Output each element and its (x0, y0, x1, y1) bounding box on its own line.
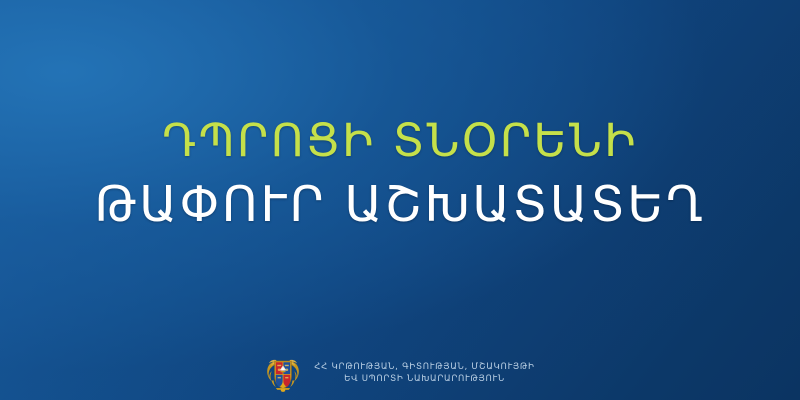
banner-title-line-1: ԴՊՐՈՑԻ ՏՆՕՐԵՆԻ (0, 118, 800, 163)
banner-footer: ՀՀ ԿՐԹՈՒԹՅԱՆ, ԳԻՏՈՒԹՅԱՆ, ՄՇԱԿՈՒՅԹԻ ԵՎ ՍՊ… (0, 354, 800, 392)
vacancy-announcement-banner: ԴՊՐՈՑԻ ՏՆՕՐԵՆԻ ԹԱՓՈՒՐ ԱՇԽԱՏԱՏԵՂ (0, 0, 800, 400)
ministry-name: ՀՀ ԿՐԹՈՒԹՅԱՆ, ԳԻՏՈՒԹՅԱՆ, ՄՇԱԿՈՒՅԹԻ ԵՎ ՍՊ… (314, 361, 534, 385)
banner-title-line-2: ԹԱՓՈՒՐ ԱՇԽԱՏԱՏԵՂ (0, 180, 800, 229)
ministry-name-line-2: ԵՎ ՍՊՈՐՏԻ ՆԱԽԱՐԱՐՈՒԹՅՈՒՆ (344, 373, 505, 385)
armenia-coat-of-arms-icon (265, 354, 301, 392)
banner-title-block: ԴՊՐՈՑԻ ՏՆՕՐԵՆԻ ԹԱՓՈՒՐ ԱՇԽԱՏԱՏԵՂ (0, 118, 800, 229)
ministry-name-line-1: ՀՀ ԿՐԹՈՒԹՅԱՆ, ԳԻՏՈՒԹՅԱՆ, ՄՇԱԿՈՒՅԹԻ (314, 361, 534, 373)
